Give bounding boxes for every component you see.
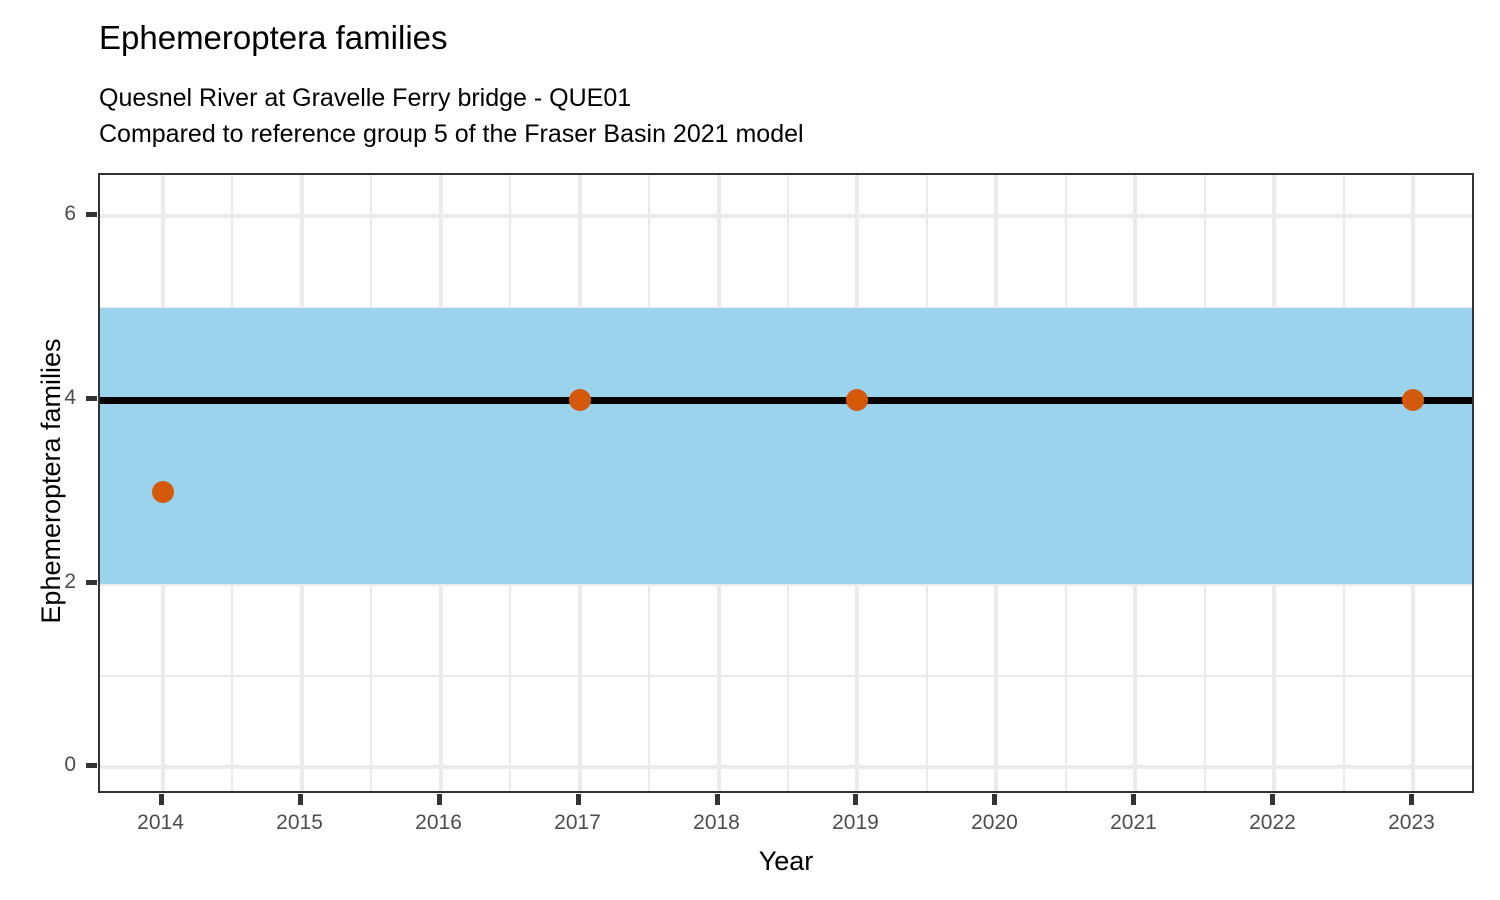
x-axis-tick-mark bbox=[1409, 794, 1414, 805]
x-axis-tick-mark bbox=[159, 794, 164, 805]
plot-area bbox=[100, 175, 1472, 791]
x-axis-tick-mark bbox=[298, 794, 303, 805]
x-axis-title: Year bbox=[98, 845, 1474, 877]
x-axis-tick-marks bbox=[98, 794, 1474, 806]
y-axis-title: Ephemeroptera families bbox=[36, 171, 66, 791]
x-axis-tick-label: 2019 bbox=[832, 812, 879, 833]
y-axis-tick-mark bbox=[86, 763, 97, 768]
x-axis-tick-mark bbox=[1270, 794, 1275, 805]
x-axis-tick-label: 2015 bbox=[276, 812, 323, 833]
x-axis-tick-label: 2017 bbox=[554, 812, 601, 833]
y-axis-tick-marks bbox=[86, 173, 98, 793]
x-axis-tick-label: 2021 bbox=[1110, 812, 1157, 833]
y-axis-tick-label: 2 bbox=[64, 571, 76, 592]
y-axis-tick-label: 0 bbox=[64, 754, 76, 775]
y-axis-tick-label: 4 bbox=[64, 387, 76, 408]
x-axis-tick-label: 2016 bbox=[415, 812, 462, 833]
x-axis-tick-mark bbox=[1131, 794, 1136, 805]
x-axis-tick-label: 2020 bbox=[971, 812, 1018, 833]
x-axis-tick-labels: 2014201520162017201820192020202120222023 bbox=[98, 812, 1474, 840]
reference-range-band bbox=[100, 308, 1472, 584]
plot-panel bbox=[98, 173, 1474, 793]
chart-container: Ephemeroptera families Quesnel River at … bbox=[0, 0, 1500, 900]
gridline-major-horizontal bbox=[100, 214, 1472, 218]
x-axis-tick-mark bbox=[992, 794, 997, 805]
data-point[interactable] bbox=[152, 481, 174, 503]
chart-subtitle: Quesnel River at Gravelle Ferry bridge -… bbox=[99, 80, 804, 152]
data-point[interactable] bbox=[569, 389, 591, 411]
y-axis-tick-mark bbox=[86, 396, 97, 401]
x-axis-tick-label: 2014 bbox=[137, 812, 184, 833]
chart-title: Ephemeroptera families bbox=[99, 18, 448, 58]
reference-median-line bbox=[100, 397, 1472, 404]
gridline-minor-horizontal bbox=[100, 675, 1472, 677]
x-axis-tick-mark bbox=[437, 794, 442, 805]
x-axis-tick-label: 2018 bbox=[693, 812, 740, 833]
y-axis-tick-mark bbox=[86, 212, 97, 217]
x-axis-tick-mark bbox=[853, 794, 858, 805]
gridline-major-horizontal bbox=[100, 765, 1472, 769]
x-axis-tick-label: 2023 bbox=[1388, 812, 1435, 833]
x-axis-tick-mark bbox=[576, 794, 581, 805]
x-axis-tick-mark bbox=[715, 794, 720, 805]
y-axis-tick-label: 6 bbox=[64, 203, 76, 224]
x-axis-tick-label: 2022 bbox=[1249, 812, 1296, 833]
y-axis-tick-mark bbox=[86, 580, 97, 585]
